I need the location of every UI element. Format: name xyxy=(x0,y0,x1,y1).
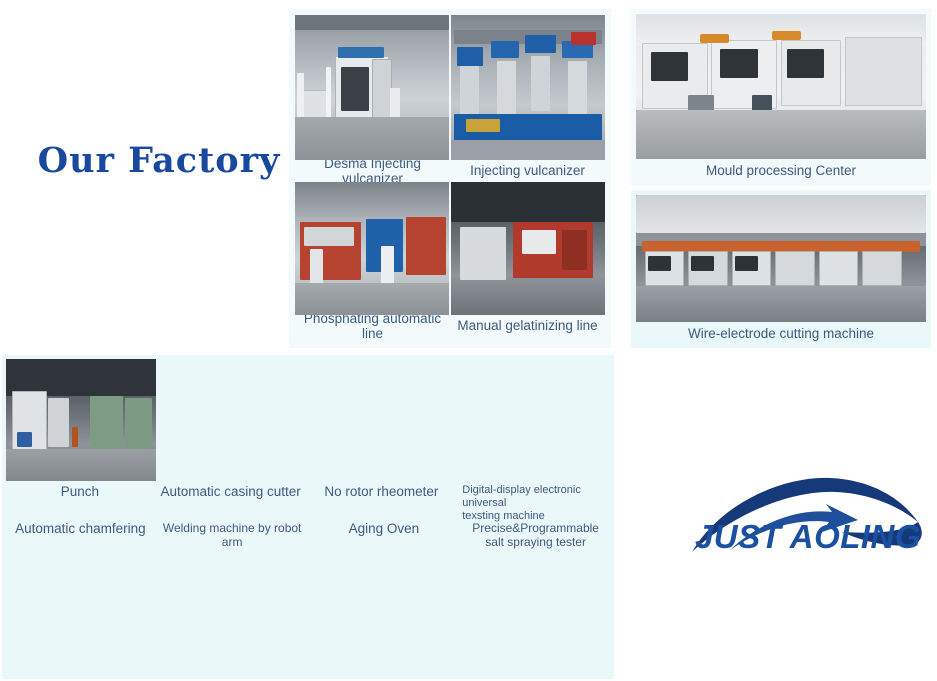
equipment-captions-row-2: Automatic chamfering Welding machine by … xyxy=(6,518,610,555)
caption-no-rotor-rheometer: No rotor rheometer xyxy=(324,484,438,500)
equipment-cell-universal-tester xyxy=(462,359,610,481)
mould-panel: Mould processing Center xyxy=(631,9,931,186)
photo-injecting-vulcanizer xyxy=(451,15,605,160)
photo-wire-electrode-cutting-machine xyxy=(636,195,926,322)
vulcanizer-panel: Desma Injecting vulcanizer Injecting vul… xyxy=(289,9,611,348)
photo-manual-gelatinizing-line xyxy=(451,182,605,315)
wire-panel: Wire-electrode cutting machine xyxy=(631,190,931,348)
caption-injecting-vulcanizer: Injecting vulcanizer xyxy=(450,163,605,179)
caption-mould-processing-center: Mould processing Center xyxy=(636,159,926,183)
caption-wrap-casing-cutter: Automatic casing cutter xyxy=(157,481,305,518)
caption-wrap-welding-robot: Welding machine by robot arm xyxy=(158,518,307,555)
photo-punch xyxy=(6,359,156,481)
equipment-captions-row-1: Punch Automatic casing cutter No rotor r… xyxy=(6,481,610,518)
equipment-panel: Punch Automatic casing cutter No rotor r… xyxy=(2,355,614,679)
caption-aging-oven: Aging Oven xyxy=(349,521,420,537)
vulcanizer-captions-row-2: Phosphating automatic line Manual gelati… xyxy=(295,315,605,337)
caption-wrap-universal-tester: Digital-display electronic universal tex… xyxy=(458,481,610,518)
equipment-cell-punch xyxy=(6,359,156,481)
caption-wrap-rheometer: No rotor rheometer xyxy=(308,481,456,518)
caption-wire-electrode-cutting-machine: Wire-electrode cutting machine xyxy=(636,322,926,346)
photo-desma-injecting-vulcanizer xyxy=(295,15,449,160)
caption-wrap-chamfering: Automatic chamfering xyxy=(6,518,155,555)
caption-automatic-casing-cutter: Automatic casing cutter xyxy=(160,484,300,500)
vulcanizer-captions-row-1: Desma Injecting vulcanizer Injecting vul… xyxy=(295,160,605,182)
equipment-cell-rheometer xyxy=(310,359,458,481)
equipment-cell-casing-cutter xyxy=(159,359,307,481)
page-title: Our Factory xyxy=(34,140,284,181)
caption-wrap-aging-oven: Aging Oven xyxy=(310,518,459,555)
caption-welding-machine-robot-arm: Welding machine by robot arm xyxy=(158,521,307,549)
vulcanizer-photo-row-2 xyxy=(295,182,605,315)
caption-phosphating-automatic-line: Phosphating automatic line xyxy=(295,311,450,342)
photo-mould-processing-center xyxy=(636,14,926,159)
photo-phosphating-automatic-line xyxy=(295,182,449,315)
caption-automatic-chamfering: Automatic chamfering xyxy=(15,521,146,537)
brand-wordmark: JUST AOLING xyxy=(683,518,933,556)
factory-showcase-page: Our Factory xyxy=(0,0,937,681)
vulcanizer-photo-row-1 xyxy=(295,15,605,160)
caption-manual-gelatinizing-line: Manual gelatinizing line xyxy=(450,318,605,334)
caption-salt-spraying-tester: Precise&Programmable salt spraying teste… xyxy=(472,521,599,549)
caption-wrap-punch: Punch xyxy=(6,481,154,518)
equipment-photo-row-1 xyxy=(6,359,610,481)
caption-punch: Punch xyxy=(61,484,99,500)
caption-wrap-salt-spray-tester: Precise&Programmable salt spraying teste… xyxy=(461,518,610,555)
